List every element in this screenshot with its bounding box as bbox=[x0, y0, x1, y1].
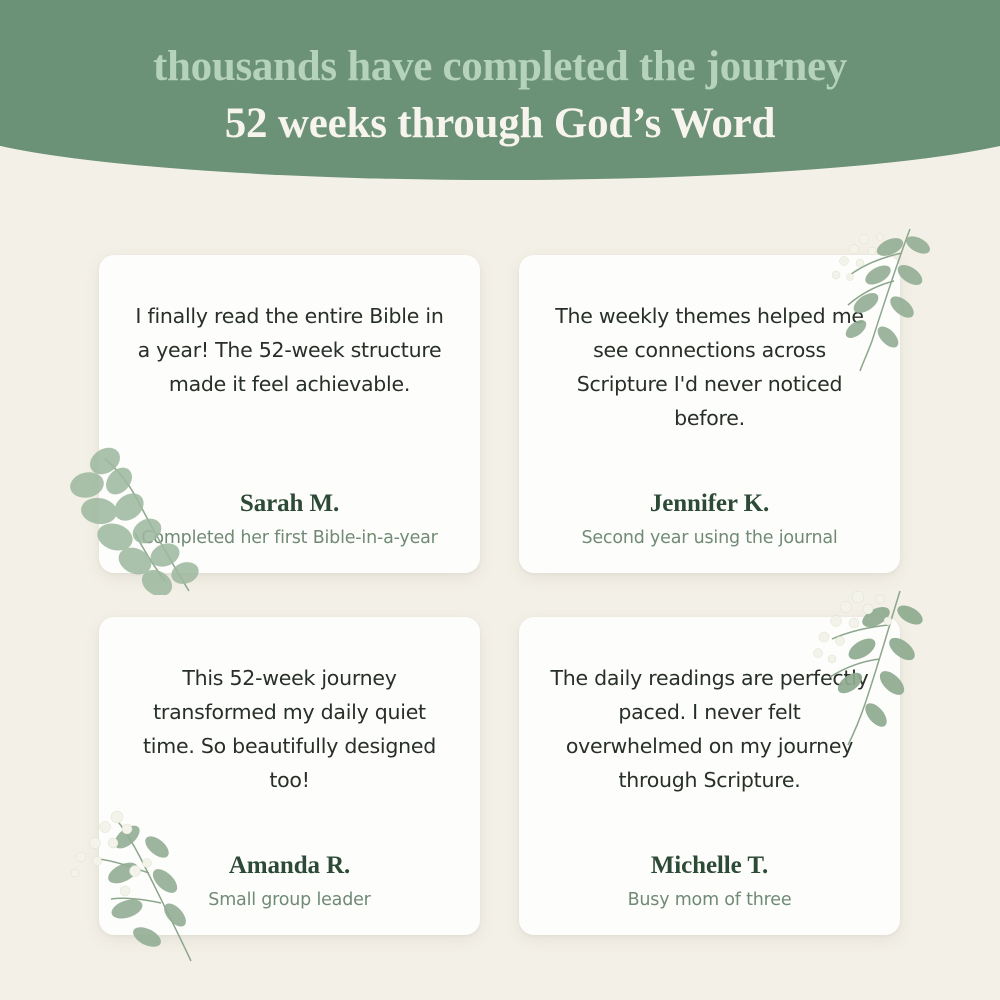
testimonial-card-wrapper-4: The daily readings are perfectly paced. … bbox=[519, 617, 900, 935]
header-subtitle: thousands have completed the journey bbox=[0, 44, 1000, 90]
testimonial-author-role: Busy mom of three bbox=[628, 888, 792, 913]
testimonial-author-role: Second year using the journal bbox=[581, 526, 837, 551]
testimonial-quote: The daily readings are perfectly paced. … bbox=[550, 661, 870, 797]
testimonial-author-name: Jennifer K. bbox=[650, 490, 769, 518]
testimonial-grid: I finally read the entire Bible in a yea… bbox=[99, 255, 900, 935]
testimonial-author-name: Michelle T. bbox=[651, 852, 768, 880]
testimonial-quote: I finally read the entire Bible in a yea… bbox=[130, 299, 450, 401]
testimonial-card[interactable]: The daily readings are perfectly paced. … bbox=[519, 617, 900, 935]
testimonial-author-name: Sarah M. bbox=[240, 490, 339, 518]
header-text-block: thousands have completed the journey 52 … bbox=[0, 0, 1000, 146]
header-title: 52 weeks through God’s Word bbox=[0, 101, 1000, 147]
testimonial-card[interactable]: The weekly themes helped me see connecti… bbox=[519, 255, 900, 573]
testimonial-quote: This 52-week journey transformed my dail… bbox=[130, 661, 450, 797]
testimonial-card-wrapper-3: This 52-week journey transformed my dail… bbox=[99, 617, 480, 935]
testimonials-page: thousands have completed the journey 52 … bbox=[0, 0, 1000, 1000]
testimonial-card-wrapper-2: The weekly themes helped me see connecti… bbox=[519, 255, 900, 573]
testimonial-author-role: Small group leader bbox=[208, 888, 370, 913]
testimonial-card[interactable]: I finally read the entire Bible in a yea… bbox=[99, 255, 480, 573]
testimonial-author-name: Amanda R. bbox=[229, 852, 350, 880]
testimonial-author-role: Completed her first Bible-in-a-year bbox=[141, 526, 437, 551]
testimonial-card-wrapper-1: I finally read the entire Bible in a yea… bbox=[99, 255, 480, 573]
header-banner: thousands have completed the journey 52 … bbox=[0, 0, 1000, 180]
testimonial-card[interactable]: This 52-week journey transformed my dail… bbox=[99, 617, 480, 935]
testimonial-quote: The weekly themes helped me see connecti… bbox=[550, 299, 870, 435]
